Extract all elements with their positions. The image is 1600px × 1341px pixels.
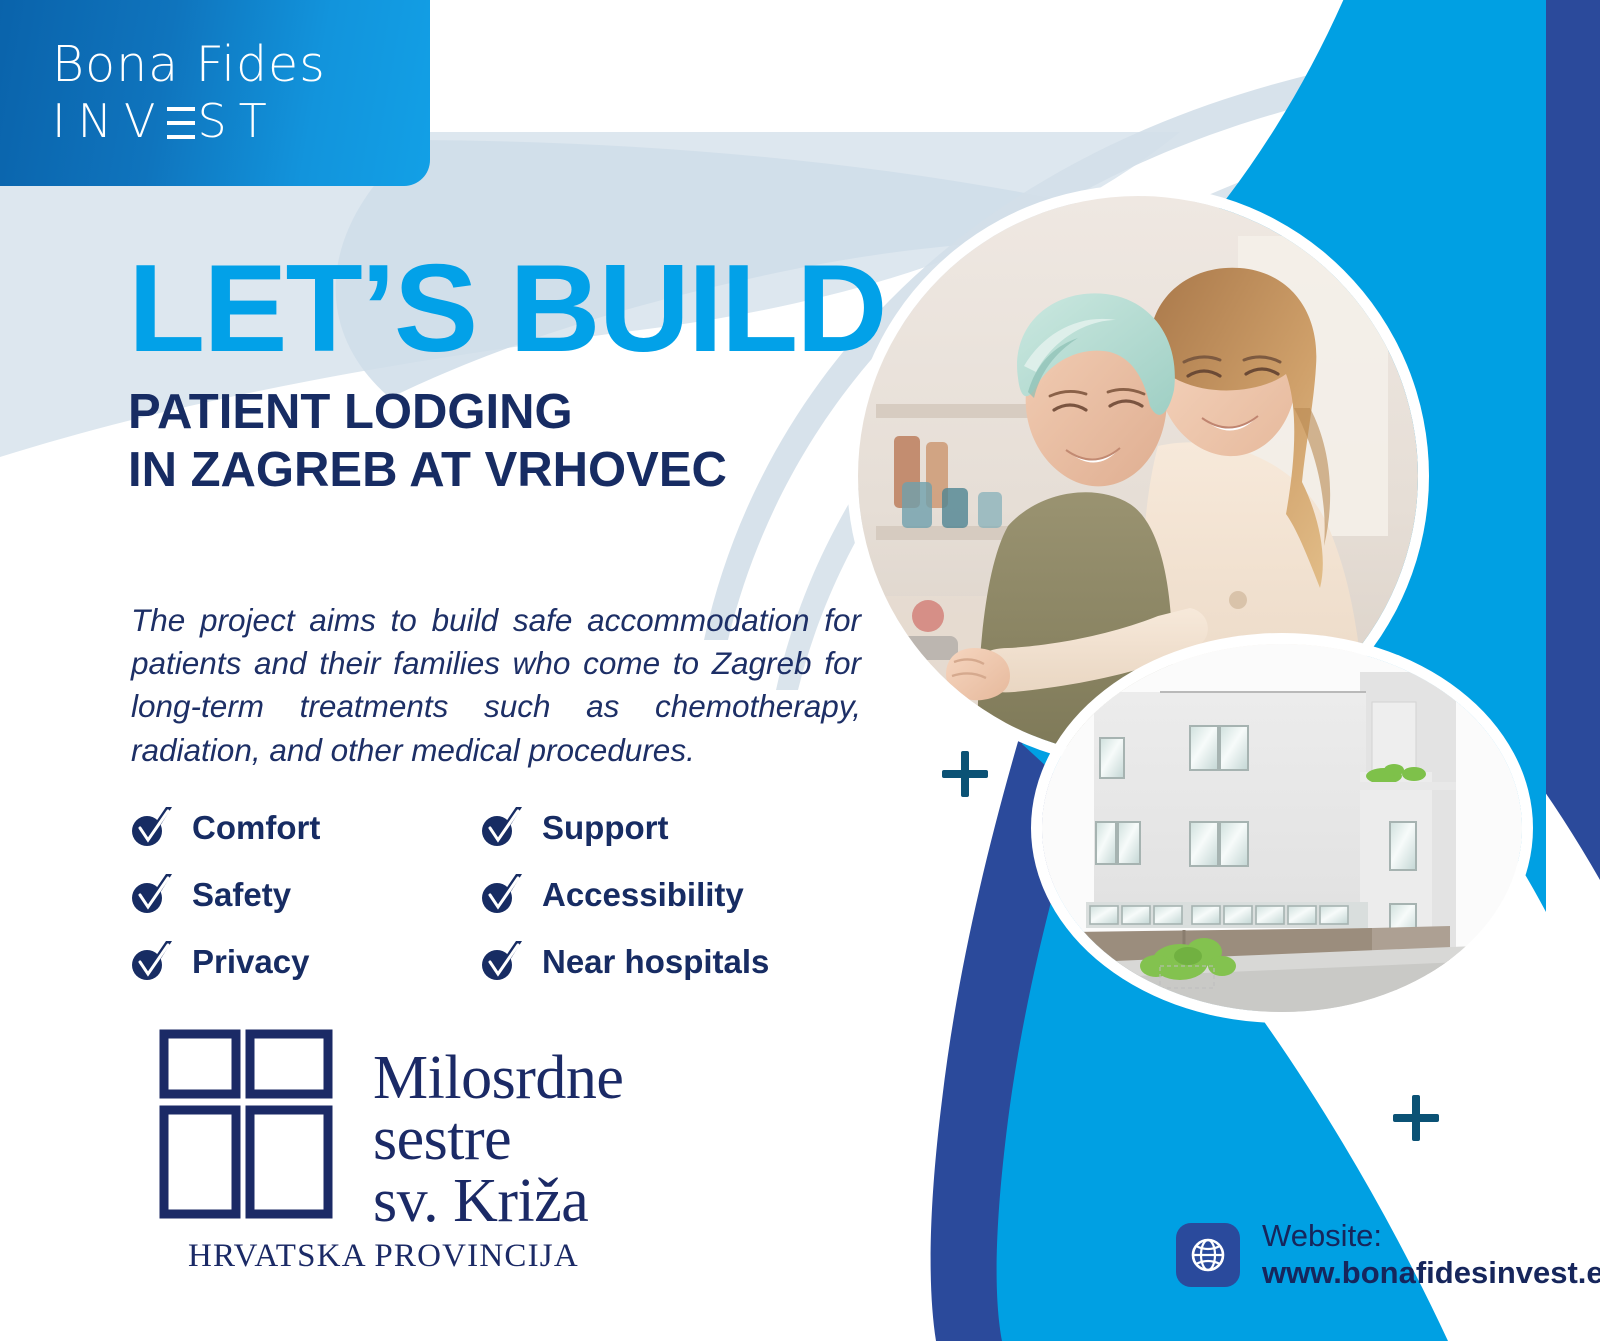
building-rendering-photo	[1042, 644, 1522, 1012]
feature-label: Near hospitals	[542, 945, 769, 978]
feature-label: Accessibility	[542, 878, 744, 911]
check-badge-icon	[128, 872, 174, 916]
brand-logo-block[interactable]: Bona Fides INV ST	[0, 0, 430, 186]
feature-label: Privacy	[192, 945, 309, 978]
feature-checklist: Comfort Support Safety Acc	[128, 805, 828, 983]
feature-label: Support	[542, 811, 668, 844]
check-badge-icon	[478, 939, 524, 983]
website-label: Website:	[1262, 1218, 1600, 1255]
brand-invest-post: ST	[197, 97, 278, 145]
website-url[interactable]: www.bonafidesinvest.eu	[1262, 1255, 1600, 1292]
four-squares-cross-icon	[156, 1026, 341, 1226]
feature-label: Safety	[192, 878, 291, 911]
feature-item-safety: Safety	[128, 872, 478, 916]
feature-item-comfort: Comfort	[128, 805, 478, 849]
description-paragraph: The project aims to build safe accommoda…	[131, 599, 861, 773]
plus-mark-icon	[1390, 1092, 1442, 1144]
poster-canvas: Bona Fides INV ST	[0, 0, 1600, 1341]
brand-invest-pre: INV	[52, 97, 167, 145]
feature-item-near-hospitals: Near hospitals	[478, 939, 828, 983]
check-badge-icon	[128, 805, 174, 849]
stacked-bars-e-icon	[167, 98, 197, 144]
check-badge-icon	[128, 939, 174, 983]
website-footer[interactable]: Website: www.bonafidesinvest.eu	[1176, 1218, 1600, 1291]
page-title: LET’S BUILD	[128, 252, 1026, 366]
feature-item-privacy: Privacy	[128, 939, 478, 983]
headline-group: LET’S BUILD PATIENT LODGING IN ZAGREB AT…	[128, 252, 1008, 500]
feature-label: Comfort	[192, 811, 320, 844]
partner-logo: Milosrdne sestre sv. Križa HRVATSKA PROV…	[156, 1026, 796, 1275]
page-subtitle: PATIENT LODGING IN ZAGREB AT VRHOVEC	[128, 384, 1008, 500]
check-badge-icon	[478, 805, 524, 849]
check-badge-icon	[478, 872, 524, 916]
brand-name-line1: Bona Fides	[52, 40, 430, 89]
plus-mark-icon	[939, 748, 991, 800]
feature-item-accessibility: Accessibility	[478, 872, 828, 916]
feature-item-support: Support	[478, 805, 828, 849]
partner-name: Milosrdne sestre sv. Križa	[373, 1026, 623, 1232]
building-rendering-illustration	[1042, 644, 1522, 1012]
partner-subtitle: HRVATSKA PROVINCIJA	[188, 1238, 796, 1275]
brand-name-line2: INV ST	[52, 97, 430, 145]
globe-icon	[1176, 1223, 1240, 1287]
